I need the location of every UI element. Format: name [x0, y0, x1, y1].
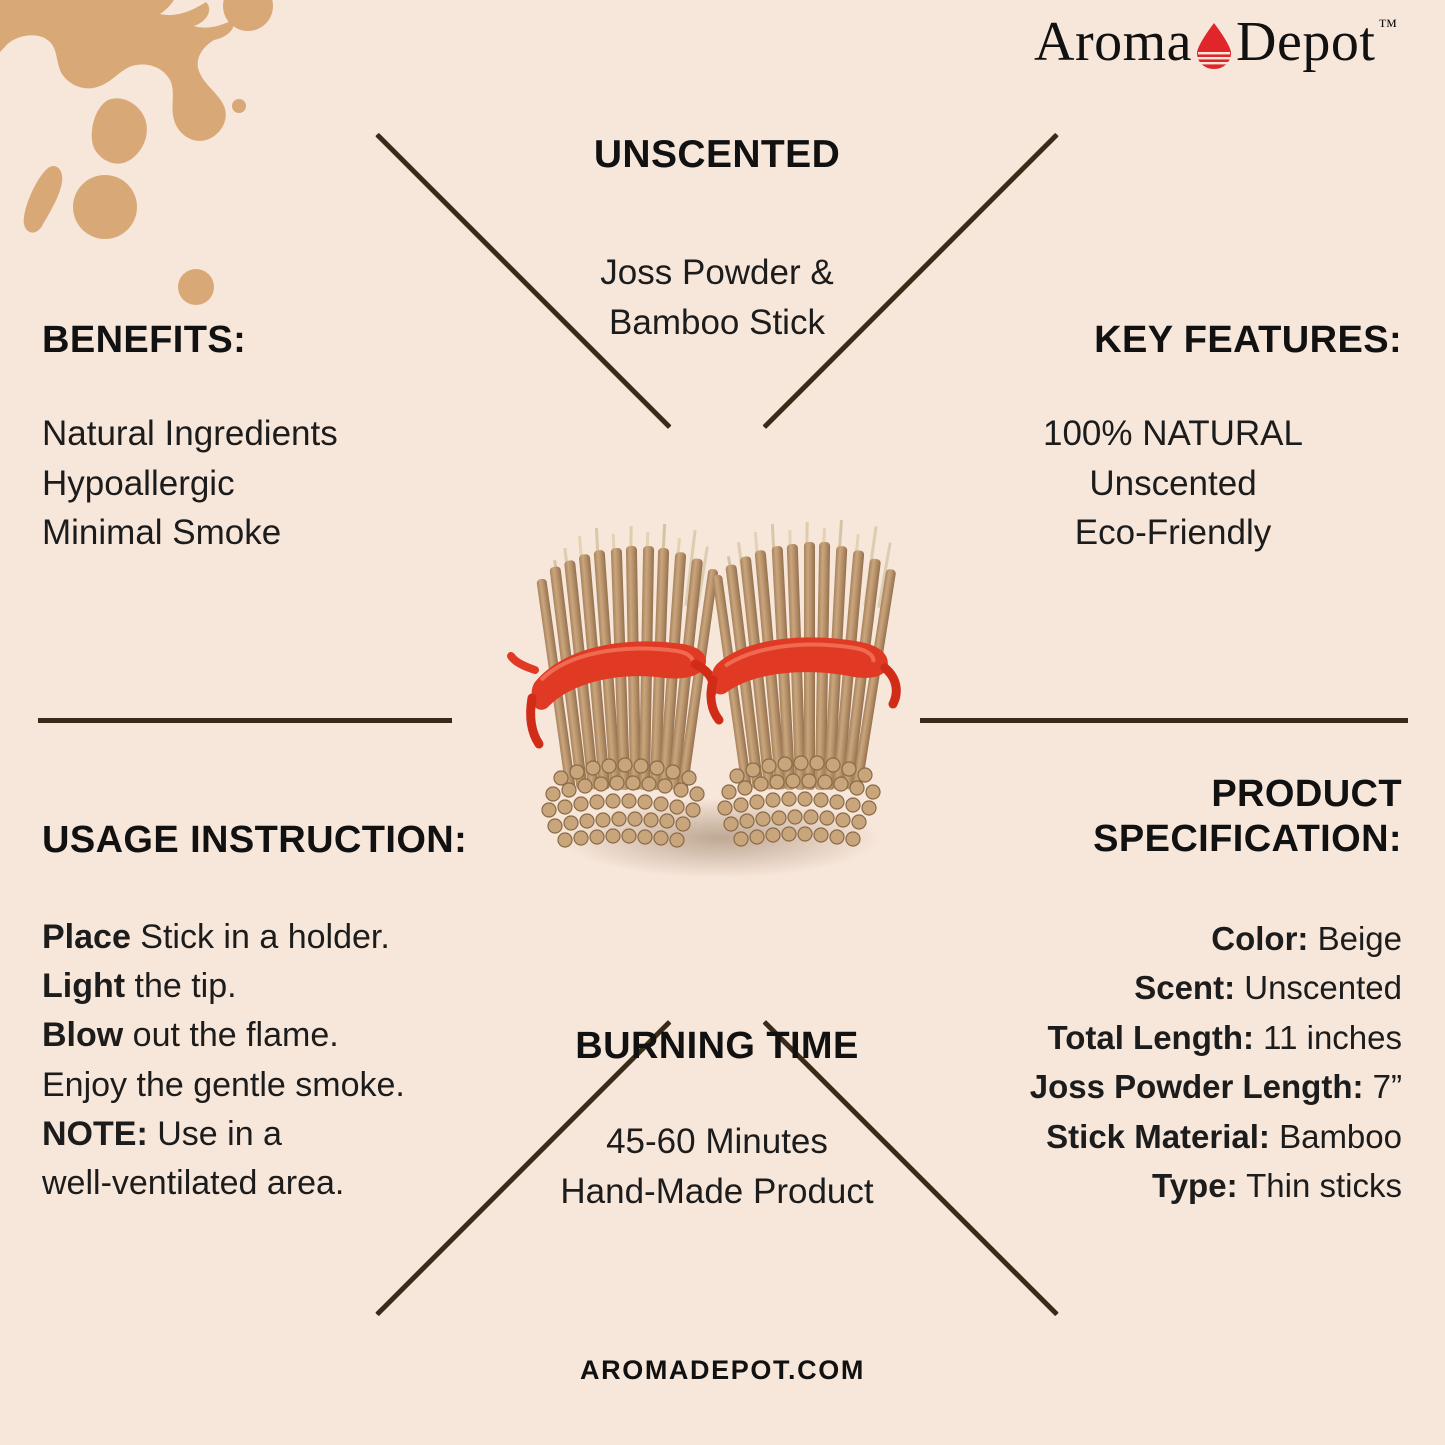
spec-value-total-length: 11 inches — [1254, 1019, 1402, 1056]
spec-row-color: Color: Beige — [900, 914, 1402, 964]
key-features-line-2: Unscented — [950, 459, 1402, 509]
section-product-specification: PRODUCT SPECIFICATION: Color: Beige Scen… — [900, 772, 1402, 1211]
usage-step-6: well-ventilated area. — [42, 1159, 512, 1208]
usage-step-3: Blow out the flame. — [42, 1011, 512, 1060]
usage-step-1: Place Stick in a holder. — [42, 913, 512, 962]
spec-row-stick-material: Stick Material: Bamboo — [900, 1112, 1402, 1162]
key-features-heading: KEY FEATURES: — [950, 318, 1402, 363]
usage-step-5: NOTE: Use in a — [42, 1110, 512, 1159]
benefits-line-2: Hypoallergic — [42, 459, 462, 509]
benefits-body: Natural Ingredients Hypoallergic Minimal… — [42, 409, 462, 558]
key-features-body: 100% NATURAL Unscented Eco-Friendly — [950, 409, 1402, 558]
paint-splatter-decoration — [0, 0, 320, 320]
spec-value-stick-material: Bamboo — [1270, 1118, 1402, 1155]
spec-value-joss-powder-length: 7” — [1363, 1068, 1402, 1105]
brand-logo: Aroma Depot ™ — [1034, 14, 1397, 86]
product-image-incense-bundles — [505, 520, 935, 880]
section-key-features: KEY FEATURES: 100% NATURAL Unscented Eco… — [950, 318, 1402, 558]
usage-body: Place Stick in a holder. Light the tip. … — [42, 913, 512, 1209]
usage-step-2-rest: the tip. — [125, 967, 237, 1005]
spec-label-type: Type: — [1152, 1167, 1238, 1204]
logo-text-aroma: Aroma — [1034, 14, 1192, 70]
logo-text-depot: Depot — [1236, 14, 1375, 70]
section-usage-instruction: USAGE INSTRUCTION: Place Stick in a hold… — [42, 818, 512, 1209]
usage-step-2: Light the tip. — [42, 962, 512, 1011]
section-benefits: BENEFITS: Natural Ingredients Hypoallerg… — [42, 318, 462, 558]
usage-step-5-rest: Use in a — [148, 1115, 282, 1153]
spec-value-type: Thin sticks — [1238, 1167, 1402, 1204]
usage-heading: USAGE INSTRUCTION: — [42, 818, 512, 863]
usage-step-4-rest: Enjoy the gentle smoke. — [42, 1066, 405, 1104]
spec-value-color: Beige — [1308, 920, 1402, 957]
usage-step-5-lead: NOTE: — [42, 1115, 148, 1153]
divider-line-right — [920, 718, 1408, 723]
footer-website-url: AROMADEPOT.COM — [0, 1355, 1445, 1386]
unscented-line-2: Bamboo Stick — [472, 298, 962, 348]
spec-heading-line-2: SPECIFICATION: — [900, 817, 1402, 862]
incense-bundle-right — [711, 520, 896, 846]
usage-step-3-lead: Blow — [42, 1016, 123, 1054]
burning-time-line-1: 45-60 Minutes — [472, 1117, 962, 1167]
benefits-heading: BENEFITS: — [42, 318, 462, 363]
usage-step-1-rest: Stick in a holder. — [131, 918, 390, 956]
spec-rows: Color: Beige Scent: Unscented Total Leng… — [900, 914, 1402, 1211]
key-features-line-1: 100% NATURAL — [950, 409, 1402, 459]
benefits-line-1: Natural Ingredients — [42, 409, 462, 459]
unscented-line-1: Joss Powder & — [472, 248, 962, 298]
spec-label-scent: Scent: — [1134, 969, 1235, 1006]
burning-time-heading: BURNING TIME — [472, 1024, 962, 1069]
incense-bundle-left — [511, 524, 718, 847]
usage-step-3-rest: out the flame. — [123, 1016, 338, 1054]
spec-value-scent: Unscented — [1235, 969, 1402, 1006]
trademark-symbol: ™ — [1378, 16, 1397, 38]
spec-label-joss-powder-length: Joss Powder Length: — [1030, 1068, 1364, 1105]
section-burning-time: BURNING TIME 45-60 Minutes Hand-Made Pro… — [472, 1024, 962, 1216]
burning-time-body: 45-60 Minutes Hand-Made Product — [472, 1117, 962, 1216]
unscented-body: Joss Powder & Bamboo Stick — [472, 248, 962, 347]
spec-row-total-length: Total Length: 11 inches — [900, 1013, 1402, 1063]
usage-step-6-rest: well-ventilated area. — [42, 1164, 344, 1202]
section-unscented: UNSCENTED Joss Powder & Bamboo Stick — [472, 132, 962, 347]
usage-step-1-lead: Place — [42, 918, 131, 956]
spec-row-type: Type: Thin sticks — [900, 1161, 1402, 1211]
spec-row-scent: Scent: Unscented — [900, 963, 1402, 1013]
spec-label-stick-material: Stick Material: — [1046, 1118, 1270, 1155]
spec-label-color: Color: — [1211, 920, 1308, 957]
usage-step-4: Enjoy the gentle smoke. — [42, 1061, 512, 1110]
spec-label-total-length: Total Length: — [1048, 1019, 1255, 1056]
infographic-canvas: Aroma Depot ™ — [0, 0, 1445, 1445]
red-droplet-icon — [1194, 20, 1234, 70]
burning-time-line-2: Hand-Made Product — [472, 1167, 962, 1217]
usage-step-2-lead: Light — [42, 967, 125, 1005]
unscented-heading: UNSCENTED — [472, 132, 962, 178]
benefits-line-3: Minimal Smoke — [42, 508, 462, 558]
spec-row-joss-powder-length: Joss Powder Length: 7” — [900, 1062, 1402, 1112]
divider-line-left — [38, 718, 452, 723]
spec-heading-line-1: PRODUCT — [900, 772, 1402, 817]
key-features-line-3: Eco-Friendly — [950, 508, 1402, 558]
